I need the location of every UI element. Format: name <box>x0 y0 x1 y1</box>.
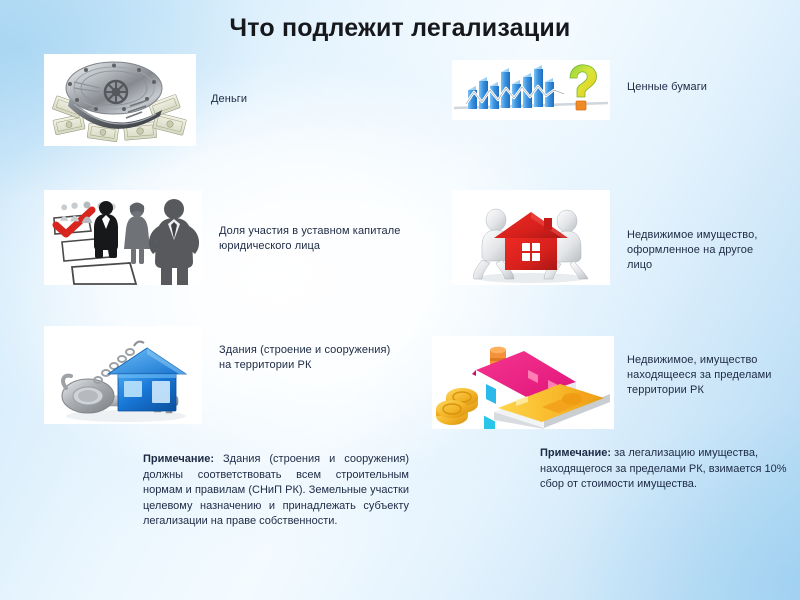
caption-property-other-person: Недвижимое имущество, оформленное на дру… <box>627 228 795 273</box>
note-fee: Примечание: за легализацию имущества, на… <box>540 446 798 493</box>
securities-chart-image <box>452 60 610 120</box>
page-title: Что подлежит легализации <box>0 14 800 43</box>
caption-buildings-in-rk: Здания (строение и сооружения) на террит… <box>219 343 434 373</box>
caption-money: Деньги <box>211 92 411 107</box>
caption-share-capital: Доля участия в уставном капитале юридиче… <box>219 224 434 254</box>
caption-securities: Ценные бумаги <box>627 80 787 95</box>
share-capital-people-image <box>44 190 202 285</box>
money-vault-image <box>44 54 196 146</box>
note-buildings: Примечание: Здания (строения и сооружени… <box>143 452 409 530</box>
property-outside-rk-image <box>432 336 614 429</box>
slide-canvas: Что подлежит легализации <box>0 0 800 600</box>
buildings-keychain-image <box>44 326 202 424</box>
note-fee-label: Примечание: <box>540 447 611 459</box>
property-other-person-image <box>452 190 610 285</box>
caption-property-outside-rk: Недвижимое, имущество находящееся за пре… <box>627 353 797 398</box>
note-buildings-label: Примечание: <box>143 453 214 465</box>
